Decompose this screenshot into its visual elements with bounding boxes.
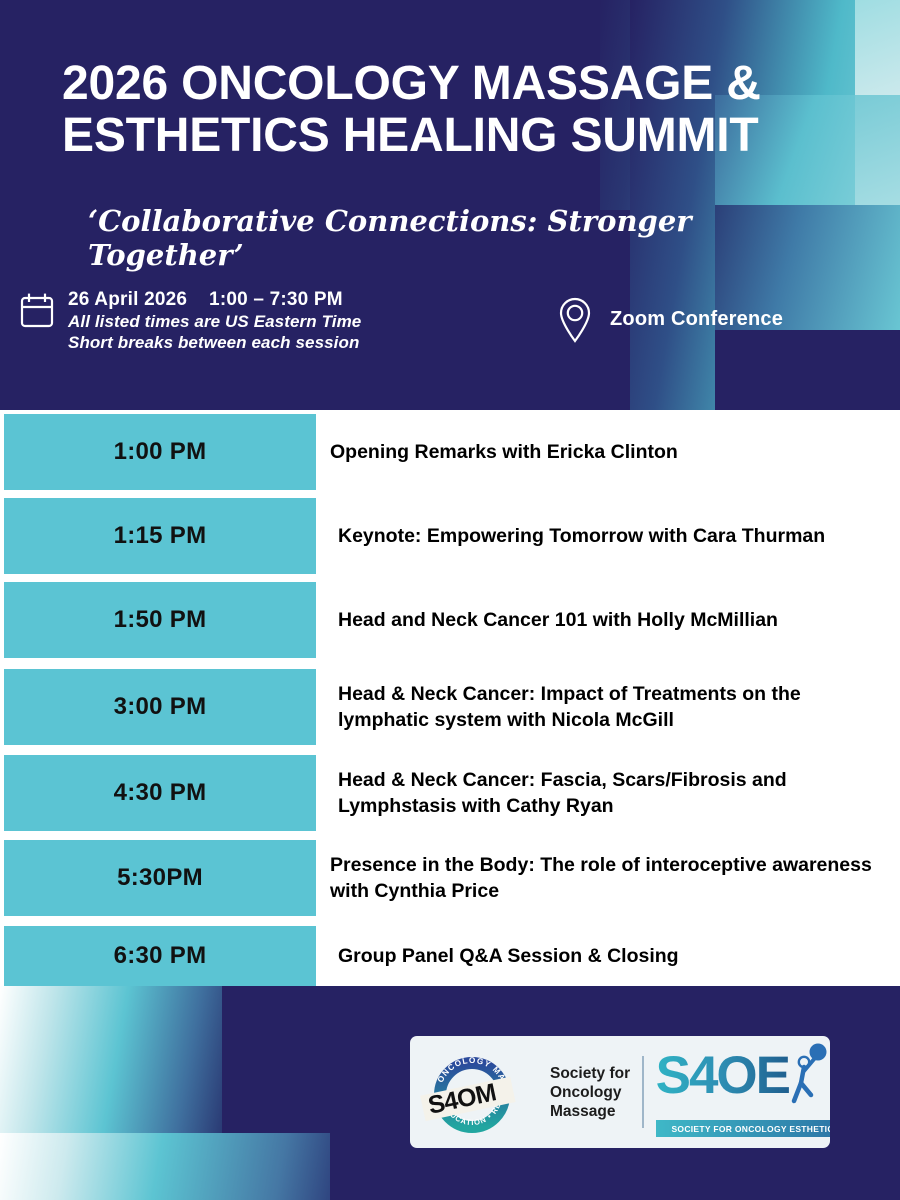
event-location-block: Zoom Conference bbox=[556, 295, 783, 343]
event-date-block: 26 April 2026 1:00 – 7:30 PM All listed … bbox=[20, 288, 361, 353]
schedule-table: 1:00 PM Opening Remarks with Ericka Clin… bbox=[0, 410, 900, 986]
session-time: 1:15 PM bbox=[4, 498, 316, 574]
session-time: 4:30 PM bbox=[4, 755, 316, 831]
s4om-logo: ONCOLOGY MASSAGE EDUCATION • RESEARCH S4… bbox=[420, 1043, 548, 1141]
session-title: Head & Neck Cancer: Impact of Treatments… bbox=[316, 669, 900, 745]
session-title: Group Panel Q&A Session & Closing bbox=[316, 926, 900, 986]
logo-divider bbox=[642, 1056, 644, 1128]
poster-subtitle: ‘Collaborative Connections: Stronger Tog… bbox=[88, 204, 848, 272]
session-time: 5:30PM bbox=[4, 840, 316, 916]
event-location: Zoom Conference bbox=[610, 308, 783, 331]
session-title: Presence in the Body: The role of intero… bbox=[316, 840, 900, 916]
poster-header: 2026 ONCOLOGY MASSAGE & ESTHETICS HEALIN… bbox=[0, 0, 900, 410]
s4oe-figure-icon bbox=[784, 1043, 830, 1109]
footer-decor-block-1 bbox=[0, 986, 222, 1133]
table-row: 1:15 PM Keynote: Empowering Tomorrow wit… bbox=[0, 498, 900, 574]
map-pin-icon bbox=[556, 295, 594, 343]
s4om-wordmark: Society forOncologyMassage bbox=[550, 1064, 630, 1121]
event-date: 26 April 2026 1:00 – 7:30 PM bbox=[68, 288, 361, 311]
sponsor-logo-strip: ONCOLOGY MASSAGE EDUCATION • RESEARCH S4… bbox=[410, 1036, 830, 1148]
session-title: Opening Remarks with Ericka Clinton bbox=[316, 414, 900, 490]
session-time: 6:30 PM bbox=[4, 926, 316, 986]
s4oe-logo: S4OE SOCIETY FOR ONCOLOGY ESTHETICS bbox=[656, 1043, 820, 1141]
page-title: 2026 ONCOLOGY MASSAGE & ESTHETICS HEALIN… bbox=[62, 58, 862, 162]
session-time: 3:00 PM bbox=[4, 669, 316, 745]
event-poster: 2026 ONCOLOGY MASSAGE & ESTHETICS HEALIN… bbox=[0, 0, 900, 1200]
calendar-icon bbox=[20, 292, 54, 328]
table-row: 1:00 PM Opening Remarks with Ericka Clin… bbox=[0, 414, 900, 490]
timezone-note: All listed times are US Eastern Time bbox=[68, 311, 361, 332]
session-title: Keynote: Empowering Tomorrow with Cara T… bbox=[316, 498, 900, 574]
breaks-note: Short breaks between each session bbox=[68, 332, 361, 353]
table-row: 5:30PM Presence in the Body: The role of… bbox=[0, 840, 900, 916]
s4oe-tagline: SOCIETY FOR ONCOLOGY ESTHETICS bbox=[656, 1120, 830, 1137]
s4oe-mark: S4OE bbox=[656, 1045, 789, 1107]
session-time: 1:00 PM bbox=[4, 414, 316, 490]
table-row: 6:30 PM Group Panel Q&A Session & Closin… bbox=[0, 926, 900, 986]
table-row: 3:00 PM Head & Neck Cancer: Impact of Tr… bbox=[0, 669, 900, 745]
table-row: 4:30 PM Head & Neck Cancer: Fascia, Scar… bbox=[0, 755, 900, 831]
session-title: Head and Neck Cancer 101 with Holly McMi… bbox=[316, 582, 900, 658]
session-title: Head & Neck Cancer: Fascia, Scars/Fibros… bbox=[316, 755, 900, 831]
table-row: 1:50 PM Head and Neck Cancer 101 with Ho… bbox=[0, 582, 900, 658]
session-time: 1:50 PM bbox=[4, 582, 316, 658]
footer-decor-block-2 bbox=[0, 1133, 330, 1200]
